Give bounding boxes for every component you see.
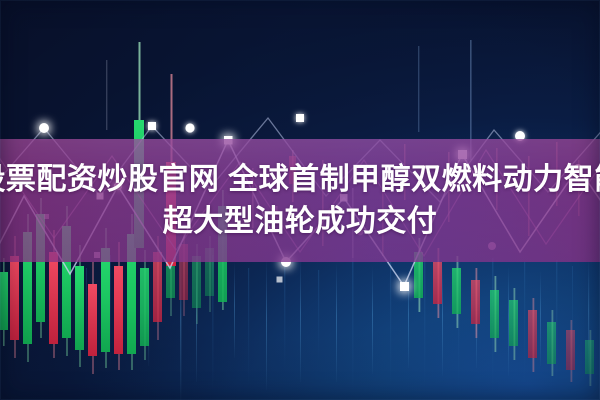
headline-line-2: 超大型油轮成功交付 bbox=[163, 202, 438, 242]
stock-news-banner: 股票配资炒股官网 全球首制甲醇双燃料动力智能 超大型油轮成功交付 bbox=[0, 0, 600, 400]
headline-line-1: 股票配资炒股官网 全球首制甲醇双燃料动力智能 bbox=[0, 160, 600, 200]
headline-block: 股票配资炒股官网 全球首制甲醇双燃料动力智能 超大型油轮成功交付 bbox=[0, 139, 600, 262]
